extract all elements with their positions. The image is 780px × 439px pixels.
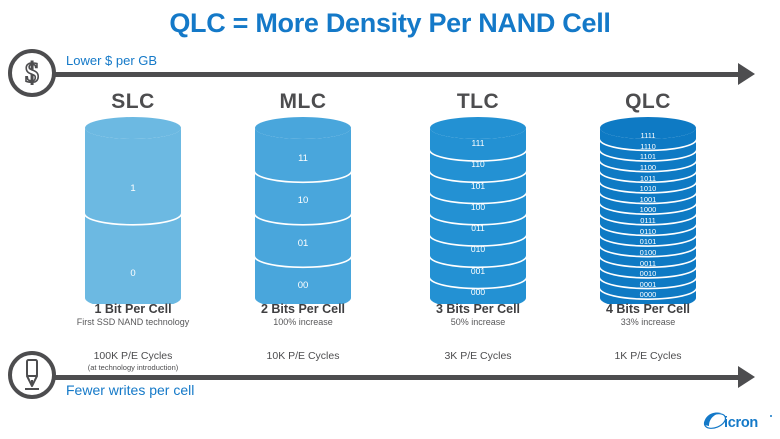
bottom-axis-arrowhead [738, 366, 755, 388]
bottom-axis-line [52, 375, 742, 380]
pe-cycles-label-slc: 100K P/E Cycles [48, 350, 218, 362]
bits-per-cell-sublabel-mlc: 100% increase [218, 317, 388, 327]
slide-canvas: QLC = More Density Per NAND Cell $ Lower… [0, 0, 780, 439]
cylinder-stack-mlc [218, 117, 388, 304]
bits-per-cell-label-tlc: 3 Bits Per Cell [393, 302, 563, 316]
cylinder-stack-slc [48, 117, 218, 304]
column-mlc: MLC [218, 90, 388, 118]
bottom-axis-caption: Fewer writes per cell [66, 382, 194, 398]
column-header-tlc: TLC [393, 90, 563, 118]
top-axis-line [52, 72, 742, 77]
column-tlc: TLC [393, 90, 563, 118]
pe-cycles-label-mlc: 10K P/E Cycles [218, 350, 388, 362]
bits-per-cell-sublabel-qlc: 33% increase [563, 317, 733, 327]
cell-level [600, 117, 696, 150]
dollar-icon: $ [8, 49, 56, 97]
cell-level [85, 117, 181, 224]
bits-per-cell-sublabel-tlc: 50% increase [393, 317, 563, 327]
micron-logo: icron [702, 410, 774, 432]
svg-text:icron: icron [724, 415, 758, 431]
bits-per-cell-label-mlc: 2 Bits Per Cell [218, 302, 388, 316]
cell-level [430, 117, 526, 160]
bits-per-cell-label-qlc: 4 Bits Per Cell [563, 302, 733, 316]
column-header-qlc: QLC [563, 90, 733, 118]
cylinder-stack-qlc [563, 117, 733, 304]
page-title: QLC = More Density Per NAND Cell [0, 8, 780, 39]
column-header-slc: SLC [48, 90, 218, 118]
column-qlc: QLC [563, 90, 733, 118]
pencil-icon [8, 351, 56, 399]
pe-cycles-sublabel-slc: (at technology introduction) [48, 363, 218, 372]
bits-per-cell-sublabel-slc: First SSD NAND technology [48, 317, 218, 327]
column-slc: SLC [48, 90, 218, 118]
bits-per-cell-label-slc: 1 Bit Per Cell [48, 302, 218, 316]
column-header-mlc: MLC [218, 90, 388, 118]
cell-level [255, 117, 351, 182]
top-axis-caption: Lower $ per GB [66, 53, 157, 68]
cylinder-stack-tlc [393, 117, 563, 304]
pe-cycles-label-tlc: 3K P/E Cycles [393, 350, 563, 362]
svg-text:$: $ [25, 58, 39, 89]
pe-cycles-label-qlc: 1K P/E Cycles [563, 350, 733, 362]
top-axis-arrowhead [738, 63, 755, 85]
